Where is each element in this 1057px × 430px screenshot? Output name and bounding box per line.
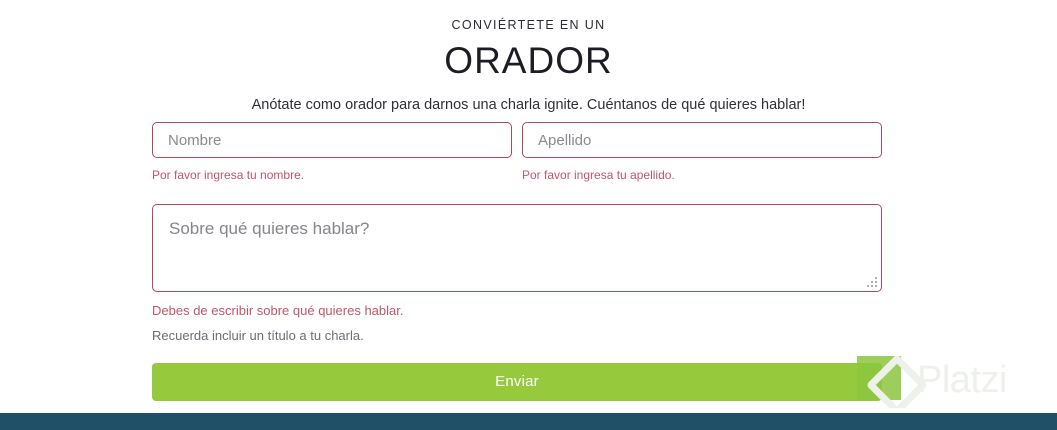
first-name-group: Por favor ingresa tu nombre. <box>152 122 512 182</box>
platzi-wordmark: Platzi <box>917 358 1007 402</box>
first-name-input[interactable] <box>152 122 512 158</box>
topic-error: Debes de escribir sobre qué quieres habl… <box>152 303 882 319</box>
submit-button[interactable]: Enviar <box>152 363 882 401</box>
page-eyebrow: CONVIÉRTETE EN UN <box>0 18 1057 33</box>
last-name-error: Por favor ingresa tu apellido. <box>522 168 882 182</box>
last-name-group: Por favor ingresa tu apellido. <box>522 122 882 182</box>
name-fields-row: Por favor ingresa tu nombre. Por favor i… <box>152 122 882 182</box>
topic-group <box>152 204 882 292</box>
first-name-error: Por favor ingresa tu nombre. <box>152 168 512 182</box>
speaker-form: Por favor ingresa tu nombre. Por favor i… <box>152 122 882 401</box>
page-subtitle: Anótate como orador para darnos una char… <box>0 96 1057 115</box>
footer-bar <box>0 413 1057 430</box>
topic-textarea[interactable] <box>152 204 882 292</box>
page-title: ORADOR <box>0 40 1057 83</box>
topic-hint: Recuerda incluir un título a tu charla. <box>152 328 882 344</box>
page-header: CONVIÉRTETE EN UN ORADOR Anótate como or… <box>0 0 1057 114</box>
last-name-input[interactable] <box>522 122 882 158</box>
speaker-signup-page: CONVIÉRTETE EN UN ORADOR Anótate como or… <box>0 0 1057 430</box>
platzi-watermark: Platzi <box>857 356 1057 408</box>
